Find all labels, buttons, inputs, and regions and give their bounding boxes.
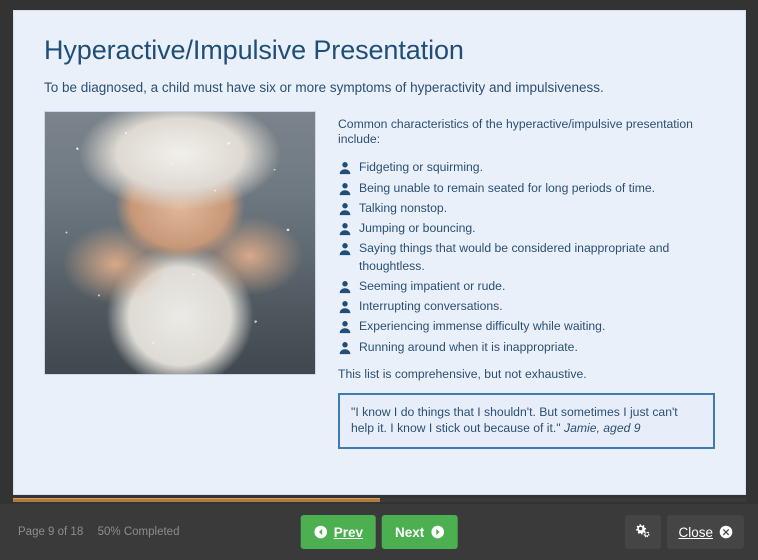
- arrow-circle-right-icon: [430, 525, 444, 539]
- next-button-label: Next: [395, 525, 424, 540]
- list-disclaimer: This list is comprehensive, but not exha…: [338, 367, 715, 381]
- person-icon: [338, 222, 352, 236]
- list-item: Experiencing immense difficulty while wa…: [338, 318, 715, 336]
- person-icon: [338, 320, 352, 334]
- navigation-controls: Prev Next: [301, 515, 458, 549]
- list-item-label: Experiencing immense difficulty while wa…: [359, 318, 605, 336]
- quote-attribution: Jamie, aged 9: [564, 421, 641, 435]
- characteristics-list: Fidgeting or squirming. Being unable to …: [338, 159, 715, 356]
- list-item: Seeming impatient or rude.: [338, 278, 715, 296]
- times-circle-icon: [719, 525, 733, 539]
- person-icon: [338, 300, 352, 314]
- person-icon: [338, 161, 352, 175]
- slide-columns: Common characteristics of the hyperactiv…: [44, 111, 715, 449]
- page-status: Page 9 of 18 50% Completed: [18, 526, 179, 538]
- list-item-label: Fidgeting or squirming.: [359, 159, 483, 177]
- completion-status: 50% Completed: [98, 526, 180, 538]
- course-player: Hyperactive/Impulsive Presentation To be…: [0, 0, 758, 560]
- prev-button-label: Prev: [334, 525, 363, 540]
- text-column: Common characteristics of the hyperactiv…: [338, 111, 715, 449]
- player-footer: Page 9 of 18 50% Completed Prev Next: [0, 504, 758, 560]
- list-item: Talking nonstop.: [338, 200, 715, 218]
- list-item: Being unable to remain seated for long p…: [338, 180, 715, 198]
- next-button[interactable]: Next: [382, 515, 457, 549]
- cogs-icon: [635, 523, 651, 542]
- list-item-label: Jumping or bouncing.: [359, 220, 476, 238]
- person-icon: [338, 202, 352, 216]
- list-item: Jumping or bouncing.: [338, 220, 715, 238]
- list-item-label: Talking nonstop.: [359, 200, 447, 218]
- close-button-label: Close: [678, 525, 713, 540]
- slide-content: Hyperactive/Impulsive Presentation To be…: [14, 11, 745, 449]
- page-title: Hyperactive/Impulsive Presentation: [44, 35, 715, 66]
- list-item: Interrupting conversations.: [338, 298, 715, 316]
- slide-panel: Hyperactive/Impulsive Presentation To be…: [13, 10, 746, 495]
- slide-subtitle: To be diagnosed, a child must have six o…: [44, 79, 715, 97]
- quote-callout: "I know I do things that I shouldn't. Bu…: [338, 393, 715, 448]
- person-icon: [338, 182, 352, 196]
- person-icon: [338, 280, 352, 294]
- photo-column: [44, 111, 316, 375]
- close-button[interactable]: Close: [667, 515, 744, 549]
- progress-bar-fill: [13, 498, 380, 502]
- list-item: Saying things that would be considered i…: [338, 240, 715, 275]
- child-baking-photo: [44, 111, 316, 375]
- list-item-label: Interrupting conversations.: [359, 298, 503, 316]
- page-counter: Page 9 of 18: [18, 526, 83, 538]
- list-item-label: Saying things that would be considered i…: [359, 240, 715, 275]
- list-item: Running around when it is inappropriate.: [338, 339, 715, 357]
- characteristics-intro: Common characteristics of the hyperactiv…: [338, 117, 715, 149]
- progress-bar-track[interactable]: [13, 498, 746, 502]
- prev-button[interactable]: Prev: [301, 515, 376, 549]
- list-item-label: Being unable to remain seated for long p…: [359, 180, 655, 198]
- list-item-label: Seeming impatient or rude.: [359, 278, 505, 296]
- settings-button[interactable]: [625, 515, 661, 549]
- person-icon: [338, 242, 352, 256]
- person-icon: [338, 341, 352, 355]
- footer-right-controls: Close: [625, 515, 744, 549]
- arrow-circle-left-icon: [314, 525, 328, 539]
- list-item-label: Running around when it is inappropriate.: [359, 339, 578, 357]
- list-item: Fidgeting or squirming.: [338, 159, 715, 177]
